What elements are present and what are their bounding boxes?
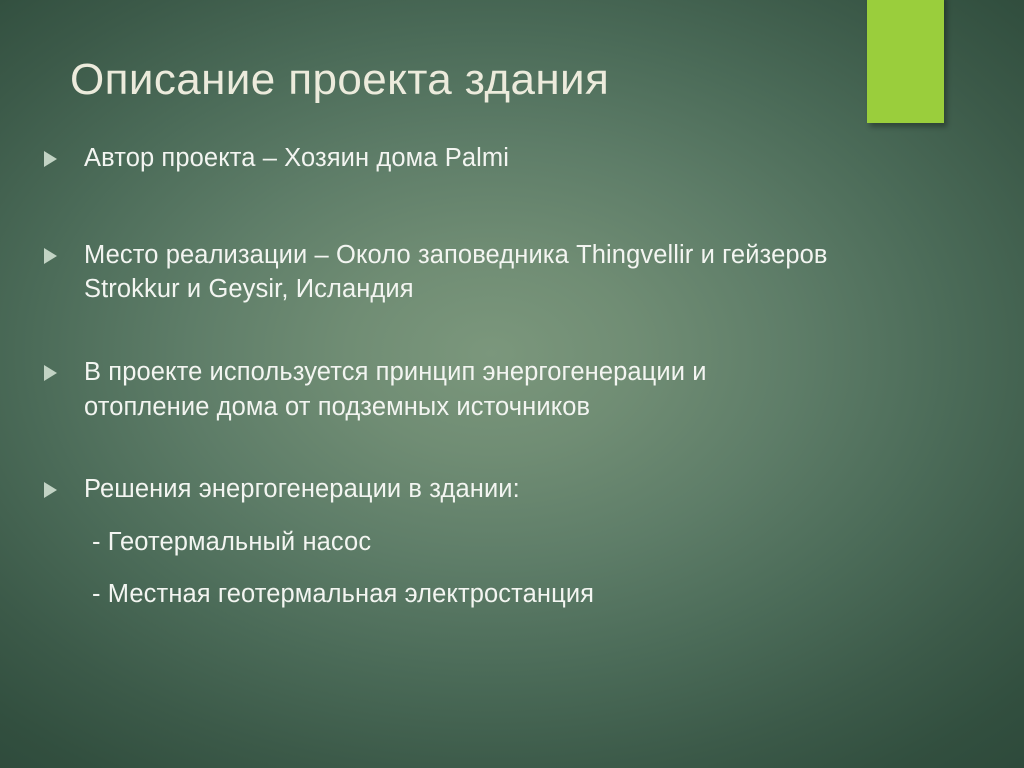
triangle-bullet-icon — [44, 151, 57, 167]
bullet-item-3-line-2: отопление дома от подземных источников — [84, 390, 1003, 425]
slide-body-content: Автор проекта – Хозяин дома Palmi Место … — [38, 141, 1003, 611]
slide-title: Описание проекта здания — [70, 55, 850, 106]
bullet-item-1: Автор проекта – Хозяин дома Palmi — [38, 141, 1003, 176]
triangle-bullet-icon — [44, 482, 57, 498]
triangle-bullet-icon — [44, 365, 57, 381]
bullet-item-2-line-1: Место реализации – Около заповедника Thi… — [84, 238, 1003, 273]
bullet-spacer-2 — [38, 307, 1003, 355]
accent-rectangle — [867, 0, 944, 123]
bullet-spacer-1 — [38, 176, 1003, 238]
bullet-spacer-3 — [38, 424, 1003, 472]
sub-item-spacer-2 — [38, 560, 1003, 577]
sub-item-4-2: - Местная геотермальная электростанция — [38, 577, 1003, 612]
sub-item-4-1: - Геотермальный насос — [38, 525, 1003, 560]
bullet-item-3-line-1: В проекте используется принцип энергоген… — [84, 355, 1003, 390]
bullet-item-3: В проекте используется принцип энергоген… — [38, 355, 1003, 424]
presentation-slide: Описание проекта здания Автор проекта – … — [0, 0, 1024, 768]
sub-item-spacer-1 — [38, 507, 1003, 525]
bullet-item-2: Место реализации – Около заповедника Thi… — [38, 238, 1003, 307]
bullet-item-2-line-2: Strokkur и Geysir, Исландия — [84, 272, 1003, 307]
bullet-item-4-line-1: Решения энергогенерации в здании: — [84, 472, 1003, 507]
bullet-item-1-line-1: Автор проекта – Хозяин дома Palmi — [84, 141, 1003, 176]
bullet-item-4: Решения энергогенерации в здании: — [38, 472, 1003, 507]
triangle-bullet-icon — [44, 248, 57, 264]
